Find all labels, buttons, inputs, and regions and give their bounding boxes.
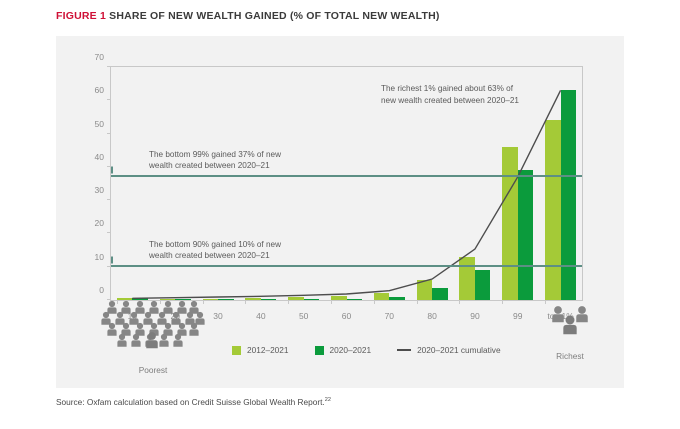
legend-label: 2020–2021 cumulative [417,345,501,355]
figure-title-text: SHARE OF NEW WEALTH GAINED (% OF TOTAL N… [109,10,439,22]
annotation-line-bottom-90 [111,265,582,267]
annotation-cap-bottom-90 [111,256,113,263]
annotation-line-bottom-99 [111,175,582,177]
y-axis-tick-label: 70 [95,52,104,62]
y-axis-tick-label: 10 [95,252,104,262]
legend-item-0: 2012–2021 [232,345,289,355]
legend-label: 2020–2021 [330,345,372,355]
source-footnote: 22 [325,397,331,403]
x-axis-tick-mark [331,300,332,304]
y-axis-tick-label: 60 [95,85,104,95]
x-axis-tick-label: 99 [513,311,522,321]
y-axis-tick-label: 40 [95,152,104,162]
richest-icon-group: Richest [530,298,610,361]
x-axis-tick-mark [374,300,375,304]
x-axis-tick-label: 30 [213,311,222,321]
annotation-cap-bottom-99 [111,166,113,173]
legend-label: 2012–2021 [247,345,289,355]
y-axis-tick-label: 50 [95,119,104,129]
source-text: Source: Oxfam calculation based on Credi… [56,397,325,407]
poorest-label: Poorest [98,365,208,375]
x-axis-tick-label: 70 [385,311,394,321]
x-axis-tick-label: 40 [256,311,265,321]
x-axis-tick-mark [459,300,460,304]
source-note: Source: Oxfam calculation based on Credi… [56,397,331,407]
plot-area: 01020304050607010203040506070809099top 1… [110,66,583,301]
people-crowd-icon [98,294,208,356]
legend-swatch [232,346,241,355]
chart-legend: 2012–20212020–20212020–2021 cumulative [232,345,501,355]
richest-label: Richest [530,351,610,361]
legend-item-1: 2020–2021 [315,345,372,355]
x-axis-tick-mark [502,300,503,304]
page-title: FIGURE 1 SHARE OF NEW WEALTH GAINED (% O… [56,10,440,22]
legend-item-2: 2020–2021 cumulative [397,345,501,355]
annotation-richest-1: The richest 1% gained about 63% of new w… [381,83,519,106]
x-axis-tick-label: 80 [427,311,436,321]
poorest-icon-group: Poorest [98,294,208,375]
x-axis-tick-label: 50 [299,311,308,321]
annotation-bottom-99: The bottom 99% gained 37% of new wealth … [149,149,281,172]
x-axis-tick-label: 90 [470,311,479,321]
plot-inner: 01020304050607010203040506070809099top 1… [111,67,582,300]
legend-line-marker [397,349,411,351]
x-axis-tick-mark [288,300,289,304]
figure-page: FIGURE 1 SHARE OF NEW WEALTH GAINED (% O… [0,0,680,429]
y-axis-tick-label: 30 [95,185,104,195]
legend-swatch [315,346,324,355]
x-axis-tick-mark [417,300,418,304]
people-three-icon [530,298,610,342]
annotation-bottom-90: The bottom 90% gained 10% of new wealth … [149,239,281,262]
y-axis-tick-label: 20 [95,218,104,228]
chart-panel: 01020304050607010203040506070809099top 1… [56,36,624,388]
x-axis-tick-label: 60 [342,311,351,321]
x-axis-tick-mark [245,300,246,304]
figure-number: FIGURE 1 [56,10,106,22]
